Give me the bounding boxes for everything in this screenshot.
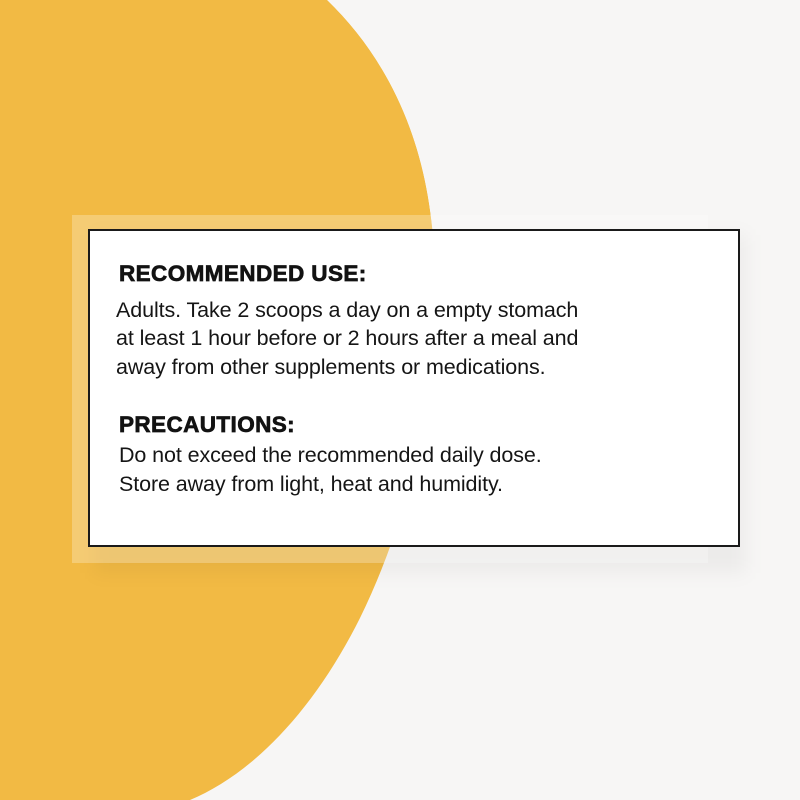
supplement-usage-card: RECOMMENDED USE: Adults. Take 2 scoops a… — [88, 229, 740, 547]
precautions-section: PRECAUTIONS: Do not exceed the recommend… — [116, 413, 708, 499]
precautions-body: Do not exceed the recommended daily dose… — [119, 441, 708, 498]
recommended-use-section: RECOMMENDED USE: Adults. Take 2 scoops a… — [116, 262, 708, 382]
recommended-use-heading: RECOMMENDED USE: — [119, 262, 708, 287]
supplement-label-card-group: RECOMMENDED USE: Adults. Take 2 scoops a… — [72, 215, 752, 565]
precautions-heading: PRECAUTIONS: — [119, 413, 708, 438]
recommended-use-body: Adults. Take 2 scoops a day on a empty s… — [116, 296, 708, 382]
card-content: RECOMMENDED USE: Adults. Take 2 scoops a… — [90, 231, 738, 498]
